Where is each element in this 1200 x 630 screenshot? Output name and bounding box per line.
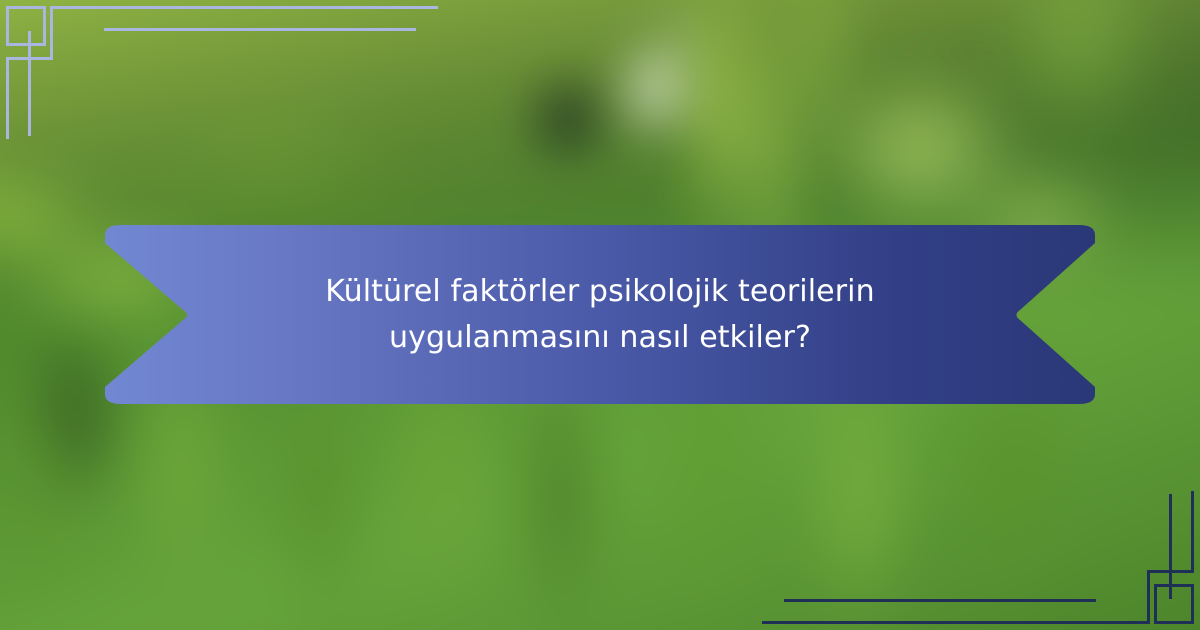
corner-rule-horizontal-inner — [784, 599, 1096, 602]
corner-rule-vertical-outer — [6, 57, 9, 139]
banner-title-line-1: Kültürel faktörler psikolojik teorilerin — [325, 274, 874, 309]
corner-bracket-bottom-right — [1040, 482, 1200, 630]
corner-square-icon — [6, 6, 46, 46]
corner-elbow-vertical — [50, 6, 53, 60]
ribbon-banner: Kültürel faktörler psikolojik teorilerin… — [105, 225, 1095, 404]
corner-rule-vertical-inner — [1169, 494, 1172, 599]
corner-rule-vertical-inner — [28, 31, 31, 136]
corner-rule-vertical-outer — [1191, 491, 1194, 573]
corner-rule-horizontal-inner — [104, 28, 416, 31]
corner-rule-horizontal-outer — [50, 6, 438, 9]
banner-title-line-2: uygulanmasını nasıl etkiler? — [389, 320, 811, 355]
banner-text-block: Kültürel faktörler psikolojik teorilerin… — [105, 225, 1095, 404]
corner-bracket-top-left — [0, 0, 160, 148]
corner-elbow-vertical — [1147, 570, 1150, 624]
corner-square-icon — [1154, 584, 1194, 624]
corner-rule-horizontal-outer — [762, 621, 1150, 624]
poster-canvas: Kültürel faktörler psikolojik teorilerin… — [0, 0, 1200, 630]
